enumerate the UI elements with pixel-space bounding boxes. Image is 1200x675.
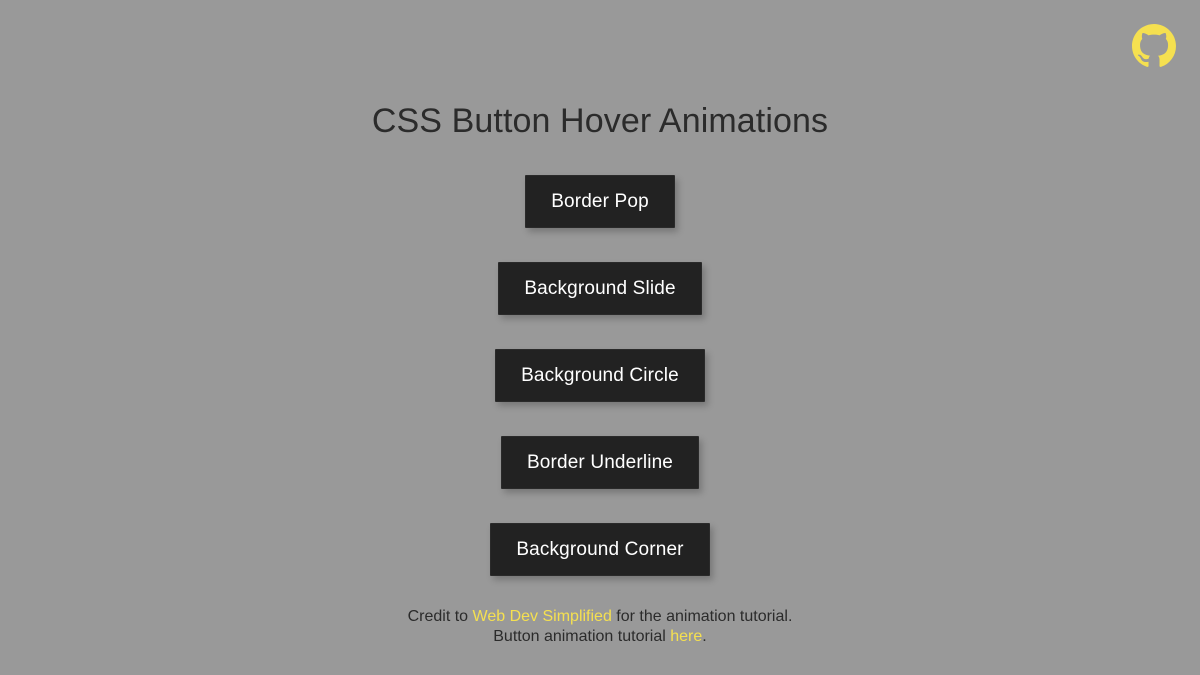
button-label: Background Slide — [524, 278, 675, 300]
border-pop-button[interactable]: Border Pop — [525, 175, 675, 228]
credit-line-1-prefix: Credit to — [408, 608, 473, 625]
github-link[interactable] — [1132, 24, 1176, 68]
github-icon — [1132, 24, 1176, 68]
background-slide-button[interactable]: Background Slide — [498, 262, 701, 315]
web-dev-simplified-link[interactable]: Web Dev Simplified — [473, 608, 612, 625]
background-corner-button[interactable]: Background Corner — [490, 523, 709, 576]
button-label: Background Corner — [516, 539, 683, 561]
button-stack: Border Pop Background Slide Background C… — [0, 175, 1200, 576]
credit-line-2-suffix: . — [702, 628, 706, 645]
button-label: Background Circle — [521, 365, 679, 387]
border-underline-button[interactable]: Border Underline — [501, 436, 699, 489]
button-label: Border Pop — [551, 191, 649, 213]
credit-line-2: Button animation tutorial here. — [0, 627, 1200, 647]
credit-line-2-prefix: Button animation tutorial — [493, 628, 670, 645]
background-circle-button[interactable]: Background Circle — [495, 349, 705, 402]
credit-footer: Credit to Web Dev Simplified for the ani… — [0, 607, 1200, 647]
credit-line-1: Credit to Web Dev Simplified for the ani… — [0, 607, 1200, 627]
credit-line-1-suffix: for the animation tutorial. — [612, 608, 793, 625]
tutorial-here-link[interactable]: here — [670, 628, 702, 645]
page-title: CSS Button Hover Animations — [0, 99, 1200, 143]
button-label: Border Underline — [527, 452, 673, 474]
